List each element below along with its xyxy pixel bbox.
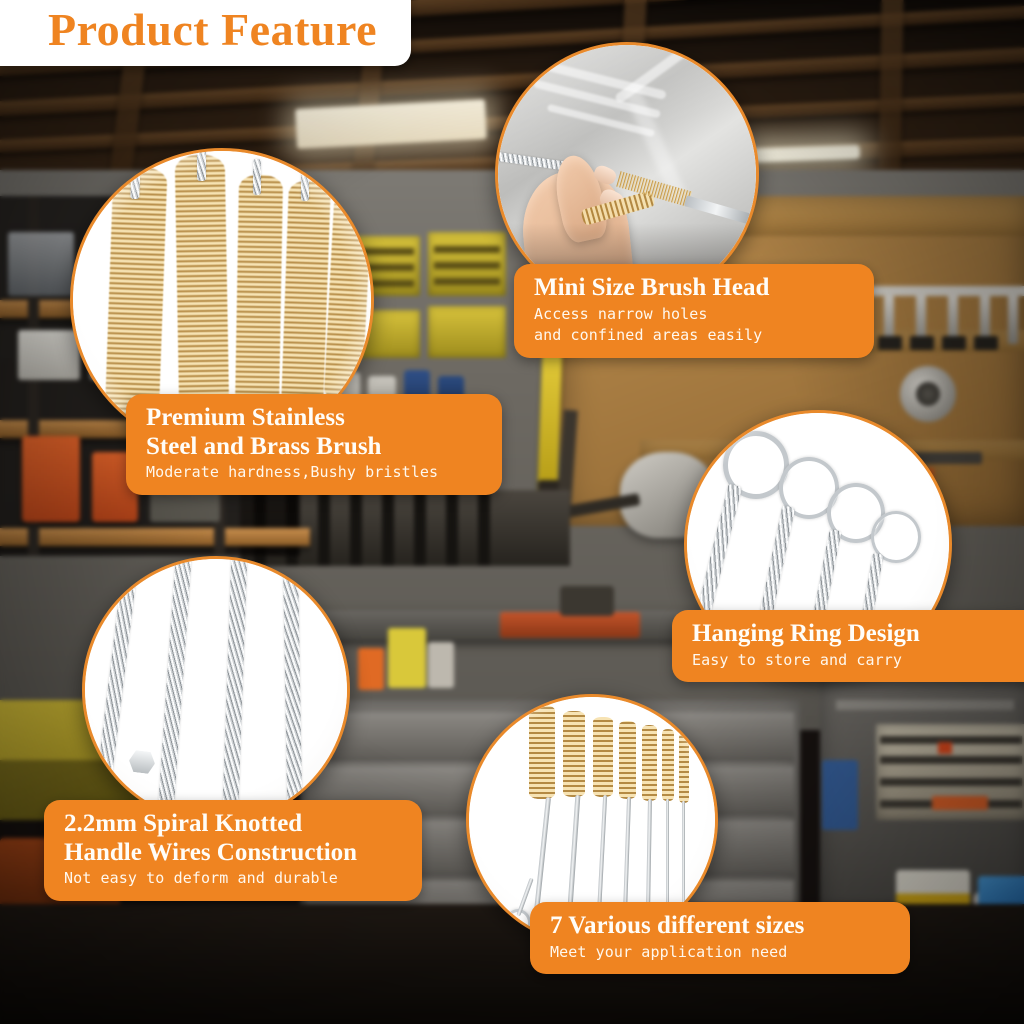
infographic-canvas: Product Feature — [0, 0, 1024, 1024]
feature-subtext-line-1: Moderate hardness,Bushy bristles — [146, 463, 482, 483]
page-title-card: Product Feature — [0, 0, 411, 66]
feature-subtext-line-1: Easy to store and carry — [692, 651, 1024, 671]
feature-card-mini-size-brush-head: Mini Size Brush Head Access narrow holes… — [514, 264, 874, 358]
page-title: Product Feature — [48, 6, 377, 54]
feature-photo-spiral-knotted-handle-wires — [82, 556, 350, 824]
feature-subtext-line-2: and confined areas easily — [534, 326, 854, 346]
feature-heading: 7 Various different sizes — [550, 912, 890, 941]
feature-heading-line-1: 2.2mm Spiral Knotted — [64, 810, 402, 839]
feature-heading-line-1: Premium Stainless — [146, 404, 482, 433]
feature-heading: Mini Size Brush Head — [534, 274, 854, 303]
feature-subtext-line-1: Access narrow holes — [534, 305, 854, 325]
feature-subtext-line-1: Not easy to deform and durable — [64, 869, 402, 889]
feature-heading-line-2: Steel and Brass Brush — [146, 433, 482, 462]
feature-card-premium-stainless-steel-brass-brush: Premium Stainless Steel and Brass Brush … — [126, 394, 502, 495]
feature-card-hanging-ring-design: Hanging Ring Design Easy to store and ca… — [672, 610, 1024, 682]
feature-card-spiral-knotted-handle-wires: 2.2mm Spiral Knotted Handle Wires Constr… — [44, 800, 422, 901]
feature-heading-line-2: Handle Wires Construction — [64, 839, 402, 868]
feature-heading: Hanging Ring Design — [692, 620, 1024, 649]
feature-subtext-line-1: Meet your application need — [550, 943, 890, 963]
feature-card-seven-various-sizes: 7 Various different sizes Meet your appl… — [530, 902, 910, 974]
